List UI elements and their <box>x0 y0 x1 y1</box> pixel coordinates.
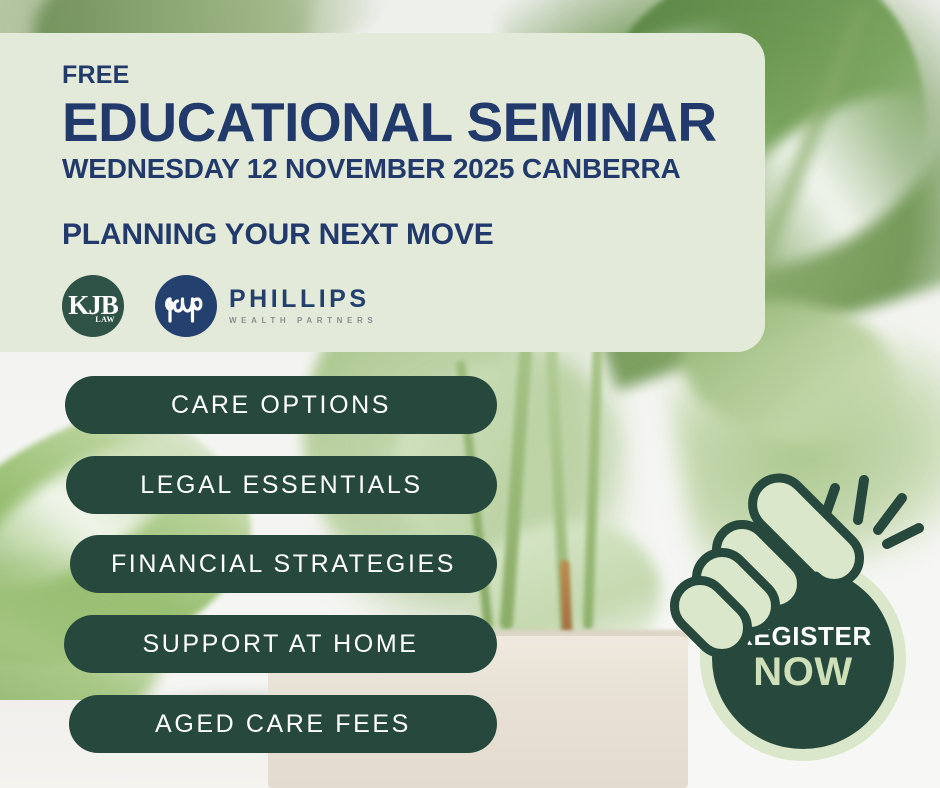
pointing-hand-icon <box>640 440 940 750</box>
header-panel: FREE EDUCATIONAL SEMINAR WEDNESDAY 12 NO… <box>0 33 765 352</box>
pwp-tagline: WEALTH PARTNERS <box>229 317 377 325</box>
topic-pill-care-options[interactable]: CARE OPTIONS <box>65 376 497 434</box>
topic-label: FINANCIAL STRATEGIES <box>111 550 456 579</box>
topic-label: LEGAL ESSENTIALS <box>140 471 422 500</box>
topic-pill-financial-strategies[interactable]: FINANCIAL STRATEGIES <box>70 535 497 593</box>
page-title: EDUCATIONAL SEMINAR <box>62 94 765 150</box>
logo-row: KJB LAW <box>62 275 765 337</box>
register-now-badge[interactable]: REGISTER NOW <box>640 440 940 750</box>
pwp-monogram-icon <box>155 275 217 337</box>
topic-label: AGED CARE FEES <box>155 710 411 739</box>
pwp-company-name: PHILLIPS <box>229 287 377 312</box>
seminar-flyer: FREE EDUCATIONAL SEMINAR WEDNESDAY 12 NO… <box>0 0 940 788</box>
kjb-law-logo: KJB LAW <box>62 275 124 337</box>
eyebrow-free: FREE <box>62 63 765 88</box>
topic-pill-legal-essentials[interactable]: LEGAL ESSENTIALS <box>66 456 497 514</box>
event-dateline: WEDNESDAY 12 NOVEMBER 2025 CANBERRA <box>62 154 765 185</box>
event-subtitle: PLANNING YOUR NEXT MOVE <box>62 218 765 251</box>
topic-label: CARE OPTIONS <box>171 391 391 420</box>
kjb-law-subtext: LAW <box>95 316 115 324</box>
topic-pill-aged-care-fees[interactable]: AGED CARE FEES <box>69 695 497 753</box>
pwp-wordmark: PHILLIPS WEALTH PARTNERS <box>229 287 377 325</box>
topic-label: SUPPORT AT HOME <box>142 630 418 659</box>
phillips-wealth-partners-logo: PHILLIPS WEALTH PARTNERS <box>155 275 377 337</box>
topic-pill-support-at-home[interactable]: SUPPORT AT HOME <box>64 615 497 673</box>
